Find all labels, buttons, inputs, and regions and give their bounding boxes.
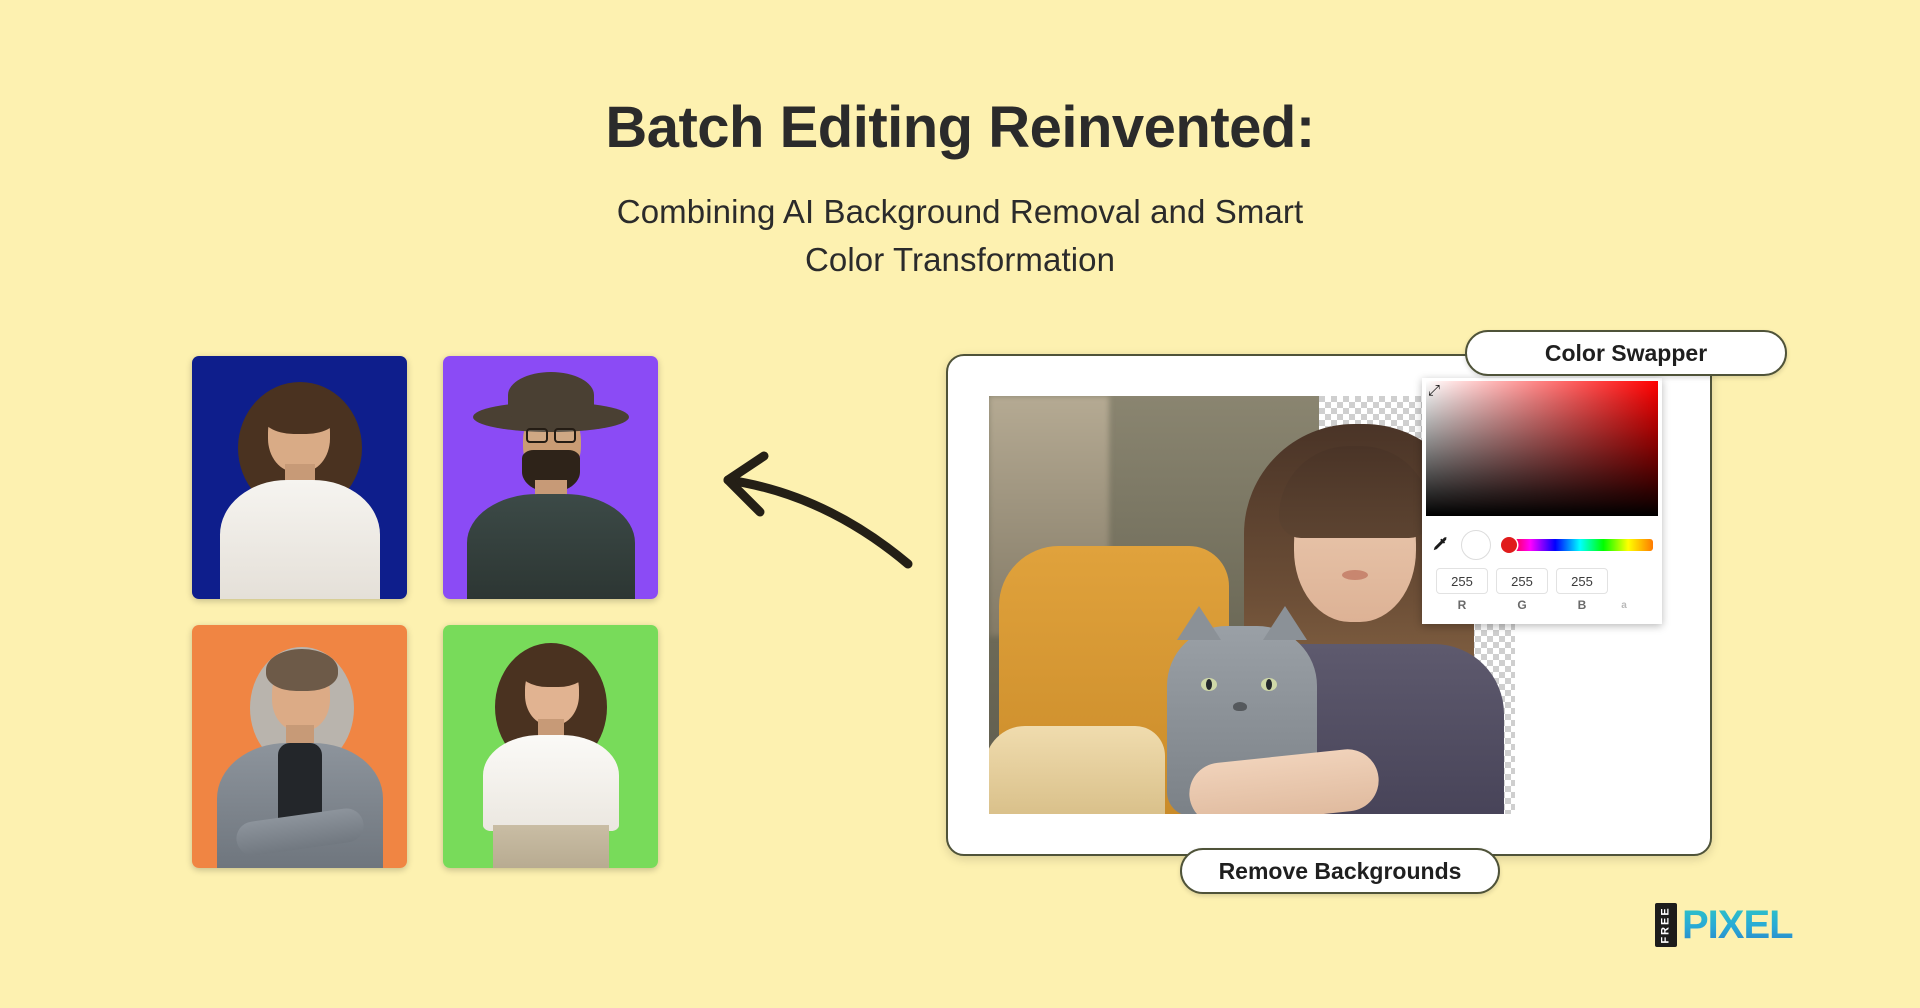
hue-slider[interactable] xyxy=(1501,538,1653,552)
portrait-woman-white-shirt xyxy=(443,625,658,868)
green-input[interactable]: 255 xyxy=(1496,568,1548,594)
color-picker-panel[interactable]: ⤢ 255 255 255 R G B a xyxy=(1422,378,1662,624)
curved-left-arrow xyxy=(690,440,920,570)
thumbnail-grid xyxy=(192,356,658,868)
rgb-labels-row: R G B a xyxy=(1422,598,1662,612)
subtitle-line-2: Color Transformation xyxy=(0,236,1920,284)
rgb-inputs-row: 255 255 255 xyxy=(1422,568,1662,594)
red-input[interactable]: 255 xyxy=(1436,568,1488,594)
subtitle-line-1: Combining AI Background Removal and Smar… xyxy=(0,188,1920,236)
portrait-man-hat xyxy=(443,356,658,599)
portrait-woman-blazer xyxy=(192,625,407,868)
logo-pixel-wordmark: PIXEL xyxy=(1682,905,1793,945)
thumbnail-tile-4[interactable] xyxy=(443,625,658,868)
blue-label: B xyxy=(1556,598,1608,612)
eyedropper-icon[interactable] xyxy=(1431,534,1451,556)
thumbnail-tile-2[interactable] xyxy=(443,356,658,599)
freepixel-logo[interactable]: FREE PIXEL xyxy=(1655,900,1840,950)
armchair-arm xyxy=(989,726,1165,814)
badge-remove-backgrounds[interactable]: Remove Backgrounds xyxy=(1180,848,1500,894)
current-color-swatch[interactable] xyxy=(1461,530,1491,560)
alpha-label: a xyxy=(1616,600,1632,611)
hue-gradient-bar xyxy=(1507,539,1653,551)
page-title: Batch Editing Reinvented: xyxy=(0,96,1920,160)
picker-cursor-icon: ⤢ xyxy=(1428,383,1444,399)
logo-free-text: FREE xyxy=(1660,906,1672,943)
badge-color-swapper[interactable]: Color Swapper xyxy=(1465,330,1787,376)
hue-slider-handle[interactable] xyxy=(1501,537,1517,553)
picker-controls-row xyxy=(1422,523,1662,567)
portrait-woman-curly xyxy=(192,356,407,599)
saturation-value-area[interactable]: ⤢ xyxy=(1426,381,1658,516)
blue-input[interactable]: 255 xyxy=(1556,568,1608,594)
thumbnail-tile-3[interactable] xyxy=(192,625,407,868)
page-header: Batch Editing Reinvented: Combining AI B… xyxy=(0,96,1920,283)
green-label: G xyxy=(1496,598,1548,612)
logo-free-mark: FREE xyxy=(1655,903,1677,947)
thumbnail-tile-1[interactable] xyxy=(192,356,407,599)
page-subtitle: Combining AI Background Removal and Smar… xyxy=(0,188,1920,284)
red-label: R xyxy=(1436,598,1488,612)
